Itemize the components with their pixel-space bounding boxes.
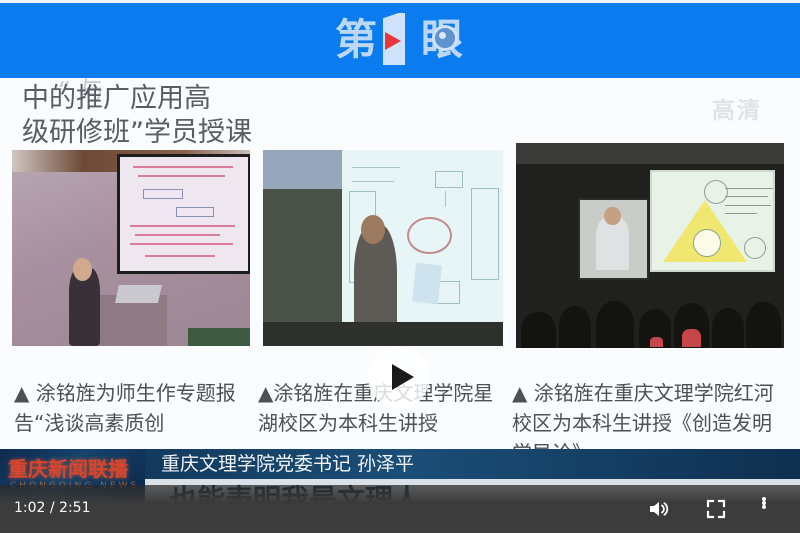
video-player-page: 第 眼 “ 与 中的推广应用高 级研修班”学员授课 高清: [0, 0, 800, 533]
channel-logo[interactable]: 第 眼: [0, 3, 800, 78]
brand-header-bar: 第 眼: [0, 3, 800, 78]
slide-headline: 中的推广应用高 级研修班”学员授课: [22, 82, 492, 150]
speaker-name: 重庆文理学院党委书记 孙泽平: [161, 452, 414, 476]
more-options-icon[interactable]: [762, 497, 786, 521]
photo-lecture-hall: [516, 143, 784, 348]
play-triangle-icon: [385, 32, 401, 50]
photo-panel-group: [0, 150, 800, 350]
quality-badge: 高清: [712, 98, 762, 124]
photo-whiteboard: [263, 150, 503, 346]
logo-char-first: 第: [335, 17, 375, 63]
channel-bug-cn: 重庆新闻联播: [8, 458, 128, 480]
caption-photo-1: ▲ 涂铭旌为师生作专题报告“浅谈高素质创: [14, 378, 262, 438]
time-display: 1:02 / 2:51: [14, 499, 91, 517]
fullscreen-icon[interactable]: [704, 497, 728, 521]
volume-icon[interactable]: [646, 497, 670, 521]
play-button[interactable]: [368, 346, 430, 408]
photo-lecture-podium: [12, 150, 250, 346]
speaker-name-bar: 重庆文理学院党委书记 孙泽平: [145, 449, 800, 479]
eye-icon: [432, 25, 458, 51]
player-control-bar[interactable]: 1:02 / 2:51: [0, 485, 800, 533]
video-surface[interactable]: “ 与 中的推广应用高 级研修班”学员授课 高清: [0, 78, 800, 533]
